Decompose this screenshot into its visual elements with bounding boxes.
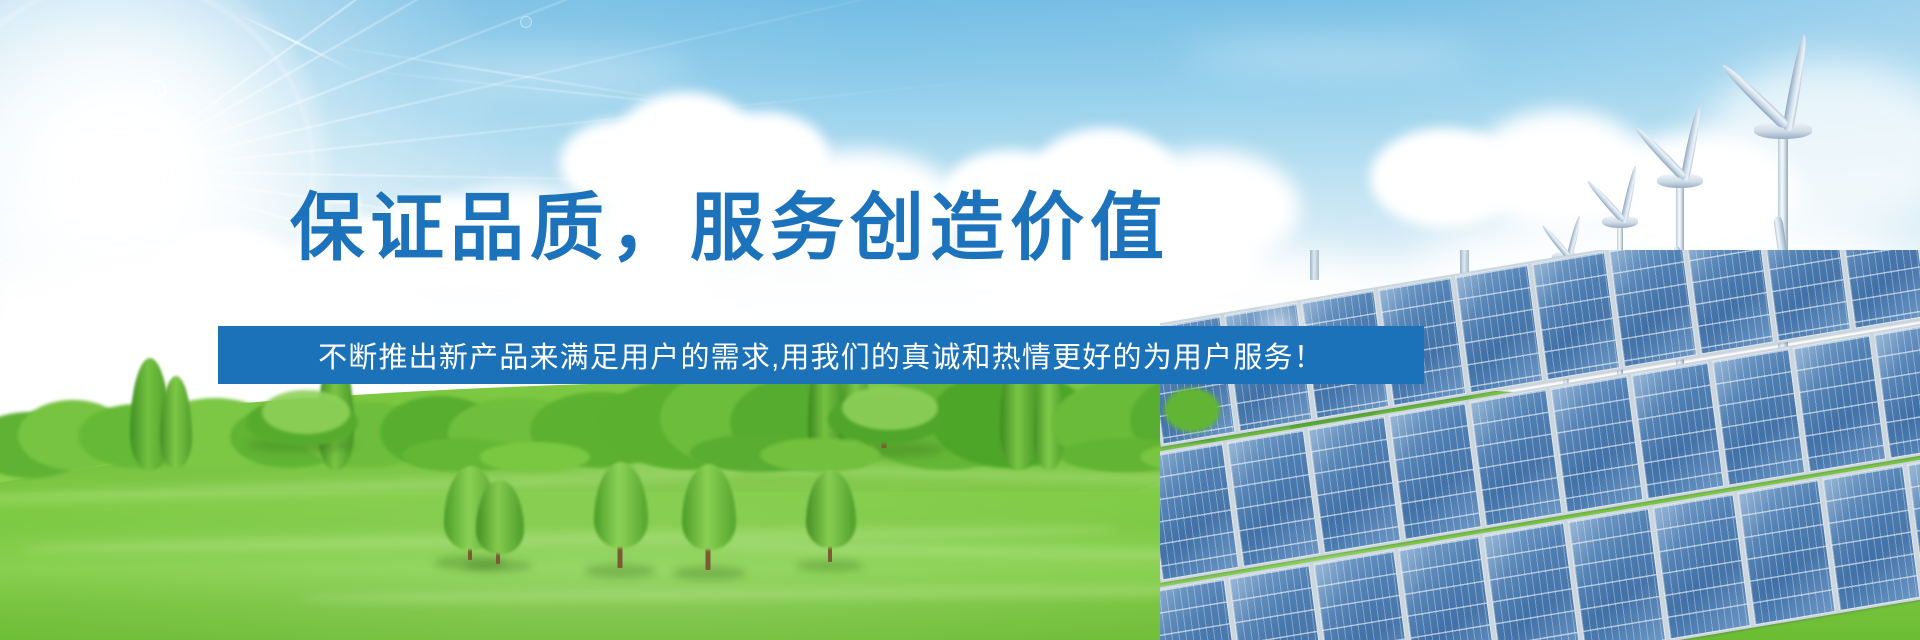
solar-panel — [1652, 493, 1750, 639]
solar-panel — [1631, 361, 1724, 499]
solar-panel — [1793, 334, 1886, 472]
shrub — [760, 438, 880, 472]
solar-panel — [1822, 465, 1920, 611]
solar-panel — [1762, 250, 1850, 342]
solar-panel — [1550, 375, 1643, 513]
solar-panel — [1568, 507, 1666, 640]
solar-panel — [1839, 250, 1920, 329]
shrub — [1164, 388, 1220, 432]
solar-panel — [1313, 550, 1411, 640]
solar-panel — [1398, 536, 1496, 640]
solar-panel — [1737, 479, 1835, 625]
bush-canopy — [262, 390, 350, 434]
solar-panel — [1609, 250, 1697, 367]
solar-panel — [1388, 402, 1481, 540]
cypress-canopy — [160, 376, 192, 468]
page-title: 保证品质，服务创造价值 — [0, 168, 1460, 275]
lens-flare-dot — [158, 87, 167, 96]
solar-panel — [1308, 416, 1401, 554]
lens-flare-dot — [520, 16, 532, 28]
subtitle-bar: 不断推出新产品来满足用户的需求,用我们的真诚和热情更好的为用户服务！ — [218, 326, 1424, 384]
solar-panel — [1686, 250, 1774, 355]
shrub — [480, 442, 590, 472]
hero-banner: 保证品质，服务创造价值 不断推出新产品来满足用户的需求,用我们的真诚和热情更好的… — [0, 0, 1920, 640]
solar-panel — [1160, 443, 1239, 581]
solar-panel — [1227, 429, 1320, 567]
solar-panel — [1469, 389, 1562, 527]
solar-panel — [1532, 251, 1620, 380]
tree-canopy — [842, 386, 938, 430]
solar-panel — [1712, 348, 1805, 486]
cypress-tree — [158, 376, 194, 468]
subtitle-text: 不断推出新产品来满足用户的需求,用我们的真诚和热情更好的为用户服务！ — [318, 334, 1324, 376]
solar-panel — [1483, 521, 1581, 640]
solar-panel — [1228, 564, 1326, 640]
solar-array-rows — [1204, 250, 1920, 640]
solar-panel — [1455, 264, 1543, 393]
